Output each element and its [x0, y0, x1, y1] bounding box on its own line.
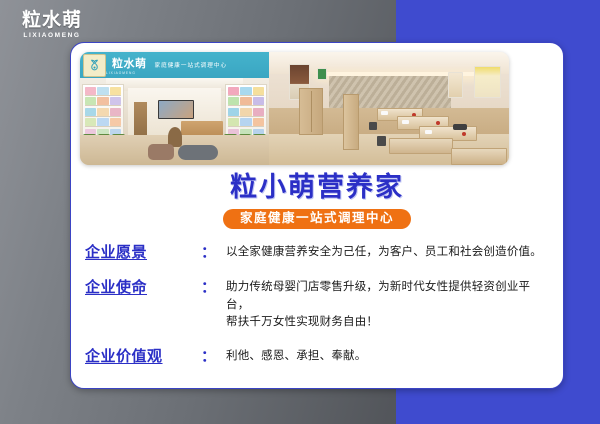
mission-label: 企业使命 — [85, 279, 201, 298]
store-signboard: 粒水萌 LIXIAOMENG 家庭健康一站式调理中心 — [80, 52, 269, 78]
room-poster-right-small — [448, 72, 463, 98]
room-poster-right-large — [474, 66, 501, 98]
values-colon: ： — [201, 348, 216, 367]
store-interior — [80, 78, 269, 165]
values-list: 企业愿景 ： 以全家健康营养安全为己任，为客户、员工和社会创造价值。 企业使命 … — [85, 244, 549, 383]
vision-label: 企业愿景 — [85, 244, 201, 263]
store-armchair — [148, 144, 174, 160]
list-item: 企业价值观 ： 利他、感恩、承担、奉献。 — [85, 348, 549, 367]
treatment-bed — [389, 138, 453, 154]
room-partition — [343, 94, 359, 150]
store-shelf-left — [82, 84, 124, 140]
photo-band: 粒水萌 LIXIAOMENG 家庭健康一站式调理中心 — [80, 52, 509, 165]
slide-canvas: 粒水萌 LIXIAOMENG — [0, 0, 600, 424]
store-wall-screen — [158, 100, 194, 119]
store-sign-cn: 粒水萌 — [112, 58, 147, 70]
list-item: 企业愿景 ： 以全家健康营养安全为己任，为客户、员工和社会创造价值。 — [85, 244, 549, 263]
mission-line-1: 助力传统母婴门店零售升级，为新时代女性提供轻资创业平台， — [226, 279, 549, 315]
mission-text: 助力传统母婴门店零售升级，为新时代女性提供轻资创业平台， 帮扶千万女性实现财务自… — [226, 279, 549, 332]
room-stool — [453, 124, 467, 130]
logo-dot — [76, 10, 80, 14]
treatment-room-photo — [269, 52, 509, 165]
list-item: 企业使命 ： 助力传统母婴门店零售升级，为新时代女性提供轻资创业平台， 帮扶千万… — [85, 279, 549, 332]
room-stool — [369, 122, 377, 130]
values-label: 企业价值观 — [85, 348, 201, 367]
page-title: 粒小萌营养家 — [71, 174, 563, 201]
store-sign-subtitle: 家庭健康一站式调理中心 — [155, 61, 228, 69]
values-text: 利他、感恩、承担、奉献。 — [226, 348, 549, 366]
vision-colon: ： — [201, 244, 216, 263]
room-stool — [377, 136, 386, 146]
room-cabinet — [299, 88, 323, 135]
mission-line-2: 帮扶千万女性实现财务自由！ — [226, 314, 549, 332]
treatment-bed — [451, 148, 507, 165]
vision-text: 以全家健康营养安全为己任，为客户、员工和社会创造价值。 — [226, 244, 549, 262]
store-shelf-right — [225, 84, 267, 140]
brand-logo: 粒水萌 LIXIAOMENG — [17, 11, 87, 40]
subtitle-badge-wrap: 家庭健康一站式调理中心 — [71, 209, 563, 229]
values-line-1: 利他、感恩、承担、奉献。 — [226, 348, 549, 366]
brand-logo-en: LIXIAOMENG — [17, 33, 87, 40]
seed-droplet-icon — [83, 54, 106, 77]
mission-colon: ： — [201, 279, 216, 298]
store-sign-en: LIXIAOMENG — [106, 72, 147, 75]
subtitle-badge: 家庭健康一站式调理中心 — [223, 209, 411, 229]
content-card: 粒水萌 LIXIAOMENG 家庭健康一站式调理中心 — [70, 42, 564, 389]
vision-line-1: 以全家健康营养安全为己任，为客户、员工和社会创造价值。 — [226, 244, 549, 262]
storefront-photo: 粒水萌 LIXIAOMENG 家庭健康一站式调理中心 — [80, 52, 269, 165]
room-scene — [269, 52, 509, 165]
store-sofa — [178, 145, 218, 160]
room-exit-sign — [317, 68, 327, 80]
